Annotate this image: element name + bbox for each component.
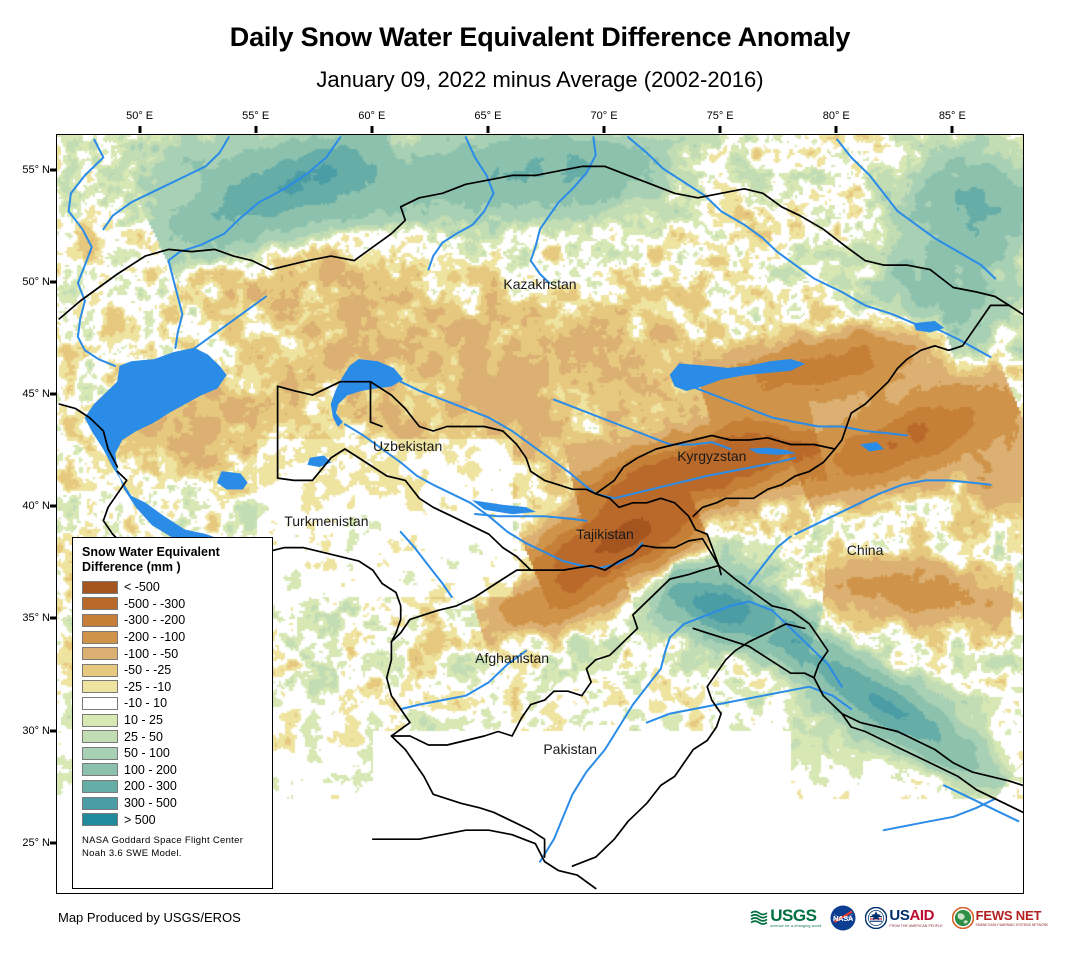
indus-river xyxy=(540,602,842,862)
border-kazakhstan-uzbekistan xyxy=(278,382,596,494)
lat-tick-label: 30° N xyxy=(16,725,50,737)
legend-entry: -25 - -10 xyxy=(82,679,264,696)
svg-text:NASA: NASA xyxy=(833,914,854,923)
legend-label: -300 - -200 xyxy=(124,613,185,627)
legend-entry: 100 - 200 xyxy=(82,762,264,779)
lat-tick-mark xyxy=(50,168,57,171)
page-title: Daily Snow Water Equivalent Difference A… xyxy=(0,0,1080,53)
legend-label: -25 - -10 xyxy=(124,680,171,694)
lat-tick-label: 45° N xyxy=(16,388,50,400)
page-subtitle: January 09, 2022 minus Average (2002-201… xyxy=(0,53,1080,93)
lon-tick-label: 55° E xyxy=(242,110,269,122)
legend-label: -500 - -300 xyxy=(124,597,185,611)
legend-entry: 200 - 300 xyxy=(82,778,264,795)
legend-swatch xyxy=(82,714,118,727)
border-turkmenistan-afghanistan xyxy=(391,570,530,642)
lon-tick-mark xyxy=(603,126,606,133)
legend-swatch xyxy=(82,647,118,660)
usaid-seal-icon xyxy=(865,907,887,929)
lat-tick-mark xyxy=(50,281,57,284)
legend-swatch xyxy=(82,763,118,776)
lat-tick-label: 25° N xyxy=(16,837,50,849)
lon-tick-mark xyxy=(951,126,954,133)
usaid-logo: USAID FROM THE AMERICAN PEOPLE xyxy=(865,904,942,932)
legend-label: 300 - 500 xyxy=(124,796,177,810)
chu-river xyxy=(554,400,731,449)
fews-net-logo: FEWS NET FAMINE EARLY WARNING SYSTEMS NE… xyxy=(952,904,1048,932)
yarkand-river xyxy=(749,536,791,583)
caspian-sea xyxy=(85,348,234,566)
tarim-river xyxy=(795,480,990,534)
legend-swatch xyxy=(82,664,118,677)
legend-swatch xyxy=(82,747,118,760)
lon-tick-label: 65° E xyxy=(474,110,501,122)
fews-net-logo-subtext: FAMINE EARLY WARNING SYSTEMS NETWORK xyxy=(976,924,1048,927)
map-credit: Map Produced by USGS/EROS xyxy=(58,910,241,925)
irtysh-river xyxy=(628,137,914,323)
legend-label: 50 - 100 xyxy=(124,746,170,760)
ganges-upper xyxy=(884,799,995,830)
lon-tick-mark xyxy=(835,126,838,133)
legend-label: -100 - -50 xyxy=(124,647,178,661)
lon-tick-mark xyxy=(138,126,141,133)
emba-river xyxy=(178,297,266,360)
logo-bar: USGS science for a changing world NASA U… xyxy=(750,903,1048,933)
legend-entry: -10 - 10 xyxy=(82,695,264,712)
legend-footer-line2: Noah 3.6 SWE Model. xyxy=(82,848,264,861)
nasa-logo: NASA xyxy=(830,904,856,932)
legend-swatch xyxy=(82,597,118,610)
lon-tick-label: 75° E xyxy=(707,110,734,122)
lat-tick-mark xyxy=(50,505,57,508)
legend-label: 25 - 50 xyxy=(124,730,163,744)
legend-entry: 25 - 50 xyxy=(82,728,264,745)
legend-swatch xyxy=(82,697,118,710)
legend-label: -50 - -25 xyxy=(124,663,171,677)
lat-tick-mark xyxy=(50,841,57,844)
bosten-lake xyxy=(861,442,884,451)
legend-label: 10 - 25 xyxy=(124,713,163,727)
legend-title-line1: Snow Water Equivalent xyxy=(82,545,264,560)
lon-tick-label: 60° E xyxy=(358,110,385,122)
lat-tick-mark xyxy=(50,393,57,396)
lon-tick-mark xyxy=(719,126,722,133)
legend-label: -10 - 10 xyxy=(124,696,167,710)
kama-river xyxy=(103,137,228,229)
legend-entry: < -500 xyxy=(82,579,264,596)
legend-swatch xyxy=(82,813,118,826)
aral-sea xyxy=(331,359,403,426)
legend-title: Snow Water Equivalent Difference (mm ) xyxy=(82,545,264,575)
lon-tick-mark xyxy=(254,126,257,133)
legend-label: 100 - 200 xyxy=(124,763,177,777)
legend-entry-list: < -500-500 - -300-300 - -200-200 - -100-… xyxy=(82,579,264,828)
usaid-logo-text: USAID xyxy=(889,908,942,923)
helmand-river xyxy=(401,651,526,709)
border-russia-kazakhstan xyxy=(59,166,1009,319)
kara-bogaz-gol xyxy=(217,471,247,489)
amu-darya xyxy=(345,424,642,568)
border-afghanistan-uzbekistan-tajikistan xyxy=(531,539,721,575)
legend-title-line2: Difference (mm ) xyxy=(82,560,264,575)
legend-swatch xyxy=(82,614,118,627)
border-mongolia-china xyxy=(1009,305,1023,314)
legend-entry: -500 - -300 xyxy=(82,596,264,613)
lon-tick-mark xyxy=(370,126,373,133)
border-iran-afghanistan-pak xyxy=(387,642,545,857)
legend-footer: NASA Goddard Space Flight Center Noah 3.… xyxy=(82,835,264,861)
usgs-logo: USGS science for a changing world xyxy=(750,904,821,932)
coastline-arabian-sea xyxy=(373,830,596,888)
ili-river xyxy=(679,382,907,436)
legend-entry: -200 - -100 xyxy=(82,629,264,646)
border-kyrgyzstan-china xyxy=(693,449,835,516)
legend-footer-line1: NASA Goddard Space Flight Center xyxy=(82,835,264,848)
murghab-river xyxy=(401,532,452,597)
lon-tick-label: 80° E xyxy=(823,110,850,122)
legend-swatch xyxy=(82,780,118,793)
legend-entry: 10 - 25 xyxy=(82,712,264,729)
border-afghanistan-pakistan xyxy=(391,566,718,745)
fews-net-logo-text: FEWS NET xyxy=(976,909,1048,922)
lat-tick-mark xyxy=(50,729,57,732)
usgs-logo-subtext: science for a changing world xyxy=(770,925,821,929)
border-tajikistan-kyrgyzstan-uz xyxy=(596,494,719,566)
border-india-nepal-bhutan xyxy=(842,714,1023,813)
legend-swatch xyxy=(82,730,118,743)
border-india-internal-jk xyxy=(693,628,814,677)
border-china-tajikistan-pak xyxy=(719,566,1023,786)
lat-tick-label: 35° N xyxy=(16,612,50,624)
legend-entry: -50 - -25 xyxy=(82,662,264,679)
legend-label: -200 - -100 xyxy=(124,630,185,644)
legend-swatch xyxy=(82,581,118,594)
ishim-river xyxy=(531,137,596,283)
issyk-kul xyxy=(749,448,795,455)
legend-swatch xyxy=(82,797,118,810)
usgs-logo-text: USGS xyxy=(770,907,821,924)
lon-tick-label: 85° E xyxy=(939,110,966,122)
legend-entry: -300 - -200 xyxy=(82,612,264,629)
lat-tick-label: 55° N xyxy=(16,164,50,176)
legend-entry: -100 - -50 xyxy=(82,645,264,662)
legend-label: > 500 xyxy=(124,813,156,827)
legend-swatch xyxy=(82,631,118,644)
lat-tick-label: 40° N xyxy=(16,500,50,512)
lon-tick-mark xyxy=(486,126,489,133)
legend-label: 200 - 300 xyxy=(124,779,177,793)
legend-entry: 50 - 100 xyxy=(82,745,264,762)
usgs-wave-icon xyxy=(750,910,768,926)
title-block: Daily Snow Water Equivalent Difference A… xyxy=(0,0,1080,93)
lat-tick-label: 50° N xyxy=(16,276,50,288)
legend-entry: > 500 xyxy=(82,811,264,828)
volga-river xyxy=(69,140,116,367)
legend-swatch xyxy=(82,680,118,693)
lon-tick-label: 50° E xyxy=(126,110,153,122)
legend-label: < -500 xyxy=(124,580,160,594)
lon-tick-label: 70° E xyxy=(591,110,618,122)
fews-globe-icon xyxy=(952,907,974,929)
tobol-river xyxy=(429,137,494,269)
map-legend: Snow Water Equivalent Difference (mm ) <… xyxy=(72,537,273,889)
ural-river xyxy=(169,137,341,348)
usaid-logo-subtext: FROM THE AMERICAN PEOPLE xyxy=(889,925,942,928)
lat-tick-mark xyxy=(50,617,57,620)
legend-entry: 300 - 500 xyxy=(82,795,264,812)
nasa-meatball-icon: NASA xyxy=(830,905,856,931)
